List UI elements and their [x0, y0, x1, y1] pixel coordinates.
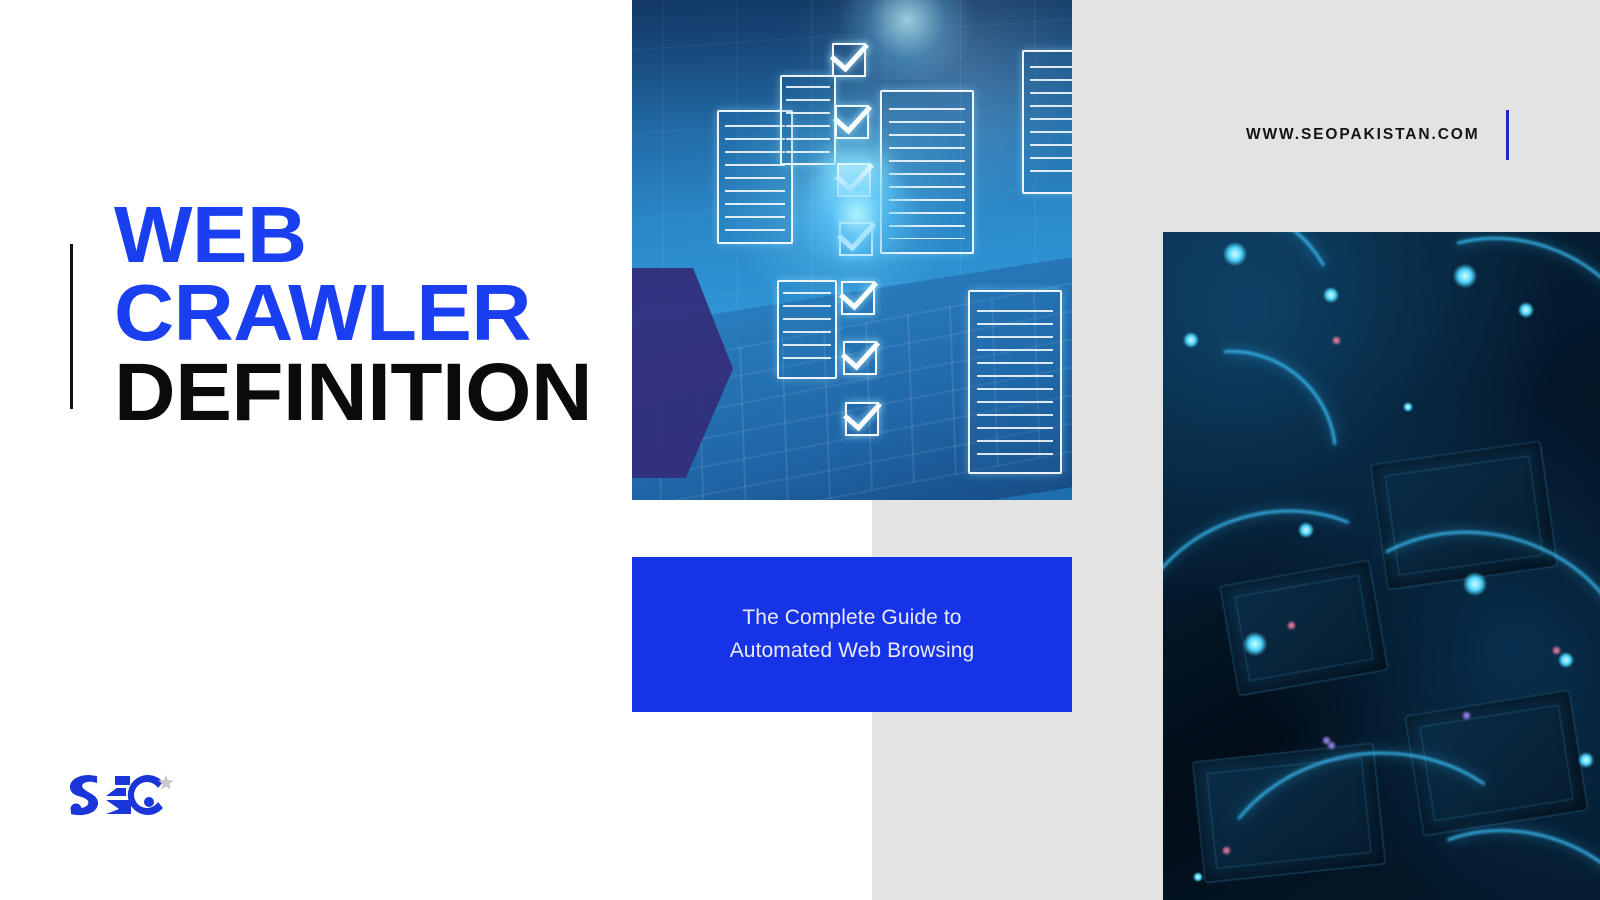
glow-node: [1578, 752, 1594, 768]
website-url-text: WWW.SEOPAKISTAN.COM: [1246, 126, 1480, 144]
checkmark-icon: [843, 341, 877, 375]
glow-node: [1323, 287, 1339, 303]
glow-node: [1518, 302, 1534, 318]
banner-canvas: WEB CRAWLER DEFINITION WWW.SEOPAKISTAN.C…: [0, 0, 1600, 900]
document-card: [777, 280, 837, 379]
caption-box: The Complete Guide to Automated Web Brow…: [632, 557, 1072, 712]
light-speck: [1463, 712, 1470, 719]
caption-line-2: Automated Web Browsing: [730, 635, 975, 668]
light-speck: [1223, 847, 1230, 854]
title-line-2: CRAWLER: [114, 274, 655, 352]
checkmark-icon: [835, 105, 869, 139]
hero-checklist-image: [632, 0, 1072, 500]
caption-text: The Complete Guide to Automated Web Brow…: [730, 602, 975, 667]
document-card-lines: [786, 86, 830, 157]
brand-logo[interactable]: [60, 765, 175, 820]
website-url[interactable]: WWW.SEOPAKISTAN.COM: [1246, 110, 1509, 160]
document-card: [968, 290, 1062, 474]
light-speck: [1328, 742, 1335, 749]
title-accent-rule: [70, 244, 73, 409]
glow-node: [1453, 264, 1477, 288]
document-card-lines: [725, 125, 786, 232]
glow-node: [1403, 402, 1413, 412]
glow-node: [1193, 872, 1203, 882]
document-card-lines: [1030, 66, 1072, 181]
light-speck: [1323, 737, 1330, 744]
glow-node: [1463, 572, 1487, 596]
glow-node: [1223, 242, 1247, 266]
glow-node: [1183, 332, 1199, 348]
seo-logo-icon: [60, 765, 175, 820]
checkmark-icon: [832, 43, 866, 77]
document-card: [1022, 50, 1072, 194]
light-speck: [1333, 337, 1340, 344]
caption-line-1: The Complete Guide to: [730, 602, 975, 635]
checkmark-icon: [841, 281, 875, 315]
glow-node: [1298, 522, 1314, 538]
checkmark-icon: [845, 402, 879, 436]
document-card-lines: [977, 310, 1053, 458]
light-speck: [1288, 622, 1295, 629]
glow-node: [1558, 652, 1574, 668]
document-card-lines: [783, 292, 830, 370]
page-title: WEB CRAWLER DEFINITION: [114, 196, 634, 433]
circuit-board-image: [1163, 232, 1600, 900]
title-line-1: WEB: [114, 196, 655, 274]
title-line-3: DEFINITION: [114, 353, 655, 433]
glow-node: [1243, 632, 1267, 656]
url-accent-bar: [1506, 110, 1509, 160]
hero-center-glow: [792, 150, 922, 280]
light-speck: [1553, 647, 1560, 654]
